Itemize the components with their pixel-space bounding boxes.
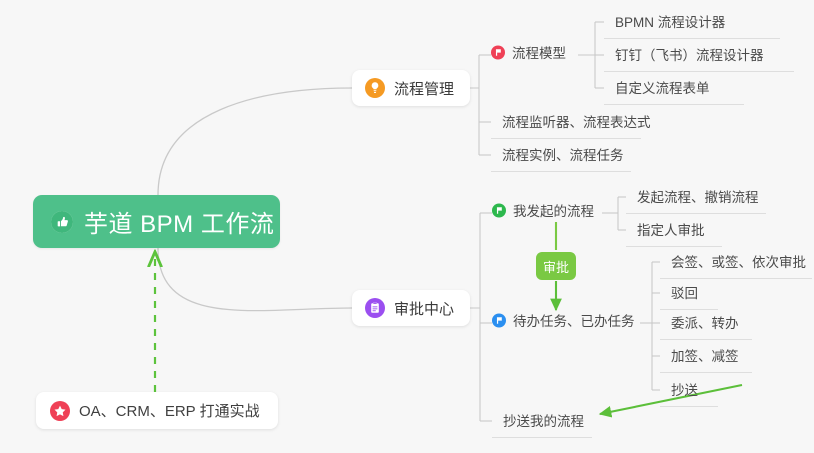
leaf-carbon-copy[interactable]: 抄送 (660, 378, 718, 407)
leaf-instance-task[interactable]: 流程实例、流程任务 (491, 143, 631, 172)
connector-root-to-liucheng-guanli (158, 88, 352, 195)
connector-root-to-shenpi-zhongxin (158, 248, 352, 311)
leaf-add-remove-sign[interactable]: 加签、减签 (660, 344, 752, 373)
branch-label-liucheng-guanli: 流程管理 (394, 78, 454, 99)
leaf-reject[interactable]: 驳回 (660, 281, 718, 310)
leaf-label-instance-task: 流程实例、流程任务 (502, 148, 624, 163)
root-node[interactable]: 芋道 BPM 工作流 (33, 195, 280, 248)
clipboard-icon (365, 298, 385, 318)
flag-icon (492, 203, 506, 217)
leaf-assignee-approve[interactable]: 指定人审批 (626, 218, 722, 247)
leaf-start-cancel-process[interactable]: 发起流程、撤销流程 (626, 185, 766, 214)
leaf-label-dingtalk-feishu-designer: 钉钉（飞书）流程设计器 (615, 48, 764, 63)
flag-icon (491, 45, 505, 59)
leaf-label-bpmn-designer: BPMN 流程设计器 (615, 15, 725, 30)
leaf-dingtalk-feishu-designer[interactable]: 钉钉（飞书）流程设计器 (604, 43, 794, 72)
leaf-label-custom-process-form: 自定义流程表单 (615, 81, 710, 96)
sub-node-label-todo-done-task: 待办任务、已办任务 (513, 310, 635, 330)
leaf-label-listener-expression: 流程监听器、流程表达式 (502, 115, 651, 130)
leaf-label-start-cancel-process: 发起流程、撤销流程 (637, 190, 759, 205)
leaf-bpmn-designer[interactable]: BPMN 流程设计器 (604, 10, 780, 39)
root-node-label: 芋道 BPM 工作流 (84, 204, 274, 239)
sub-node-label-my-initiated: 我发起的流程 (513, 200, 594, 220)
node-oa-crm-erp-label: OA、CRM、ERP 打通实战 (79, 400, 260, 421)
leaf-countersign[interactable]: 会签、或签、依次审批 (660, 250, 812, 279)
badge-shenpi[interactable]: 审批 (536, 252, 576, 280)
branch-node-shenpi-zhongxin[interactable]: 审批中心 (352, 290, 470, 326)
leaf-label-add-remove-sign: 加签、减签 (671, 349, 739, 364)
leaf-label-delegate-transfer: 委派、转办 (671, 316, 739, 331)
sub-node-label-liucheng-moxing: 流程模型 (512, 42, 566, 62)
branch-label-shenpi-zhongxin: 审批中心 (394, 298, 454, 319)
star-icon (50, 401, 70, 421)
leaf-delegate-transfer[interactable]: 委派、转办 (660, 311, 752, 340)
node-oa-crm-erp[interactable]: OA、CRM、ERP 打通实战 (36, 392, 278, 429)
leaf-label-countersign: 会签、或签、依次审批 (671, 255, 806, 270)
leaf-listener-expression[interactable]: 流程监听器、流程表达式 (491, 110, 641, 139)
leaf-label-carbon-copy: 抄送 (671, 383, 698, 398)
leaf-cc-to-me[interactable]: 抄送我的流程 (492, 409, 592, 438)
branch-node-liucheng-guanli[interactable]: 流程管理 (352, 70, 470, 106)
sub-node-my-initiated[interactable]: 我发起的流程 (492, 200, 594, 220)
flag-icon (492, 313, 506, 327)
leaf-label-assignee-approve: 指定人审批 (637, 223, 705, 238)
leaf-label-reject: 驳回 (671, 286, 698, 301)
sub-node-liucheng-moxing[interactable]: 流程模型 (491, 42, 566, 62)
sub-node-todo-done-task[interactable]: 待办任务、已办任务 (492, 310, 635, 330)
mindmap-canvas: 芋道 BPM 工作流 流程管理 流程模型 BPMN 流程设计器 钉钉（飞书）流程… (0, 0, 814, 453)
thumbs-up-icon (51, 211, 73, 233)
lightbulb-icon (365, 78, 385, 98)
leaf-custom-process-form[interactable]: 自定义流程表单 (604, 76, 744, 105)
leaf-label-cc-to-me: 抄送我的流程 (503, 414, 584, 429)
badge-shenpi-label: 审批 (543, 257, 569, 276)
